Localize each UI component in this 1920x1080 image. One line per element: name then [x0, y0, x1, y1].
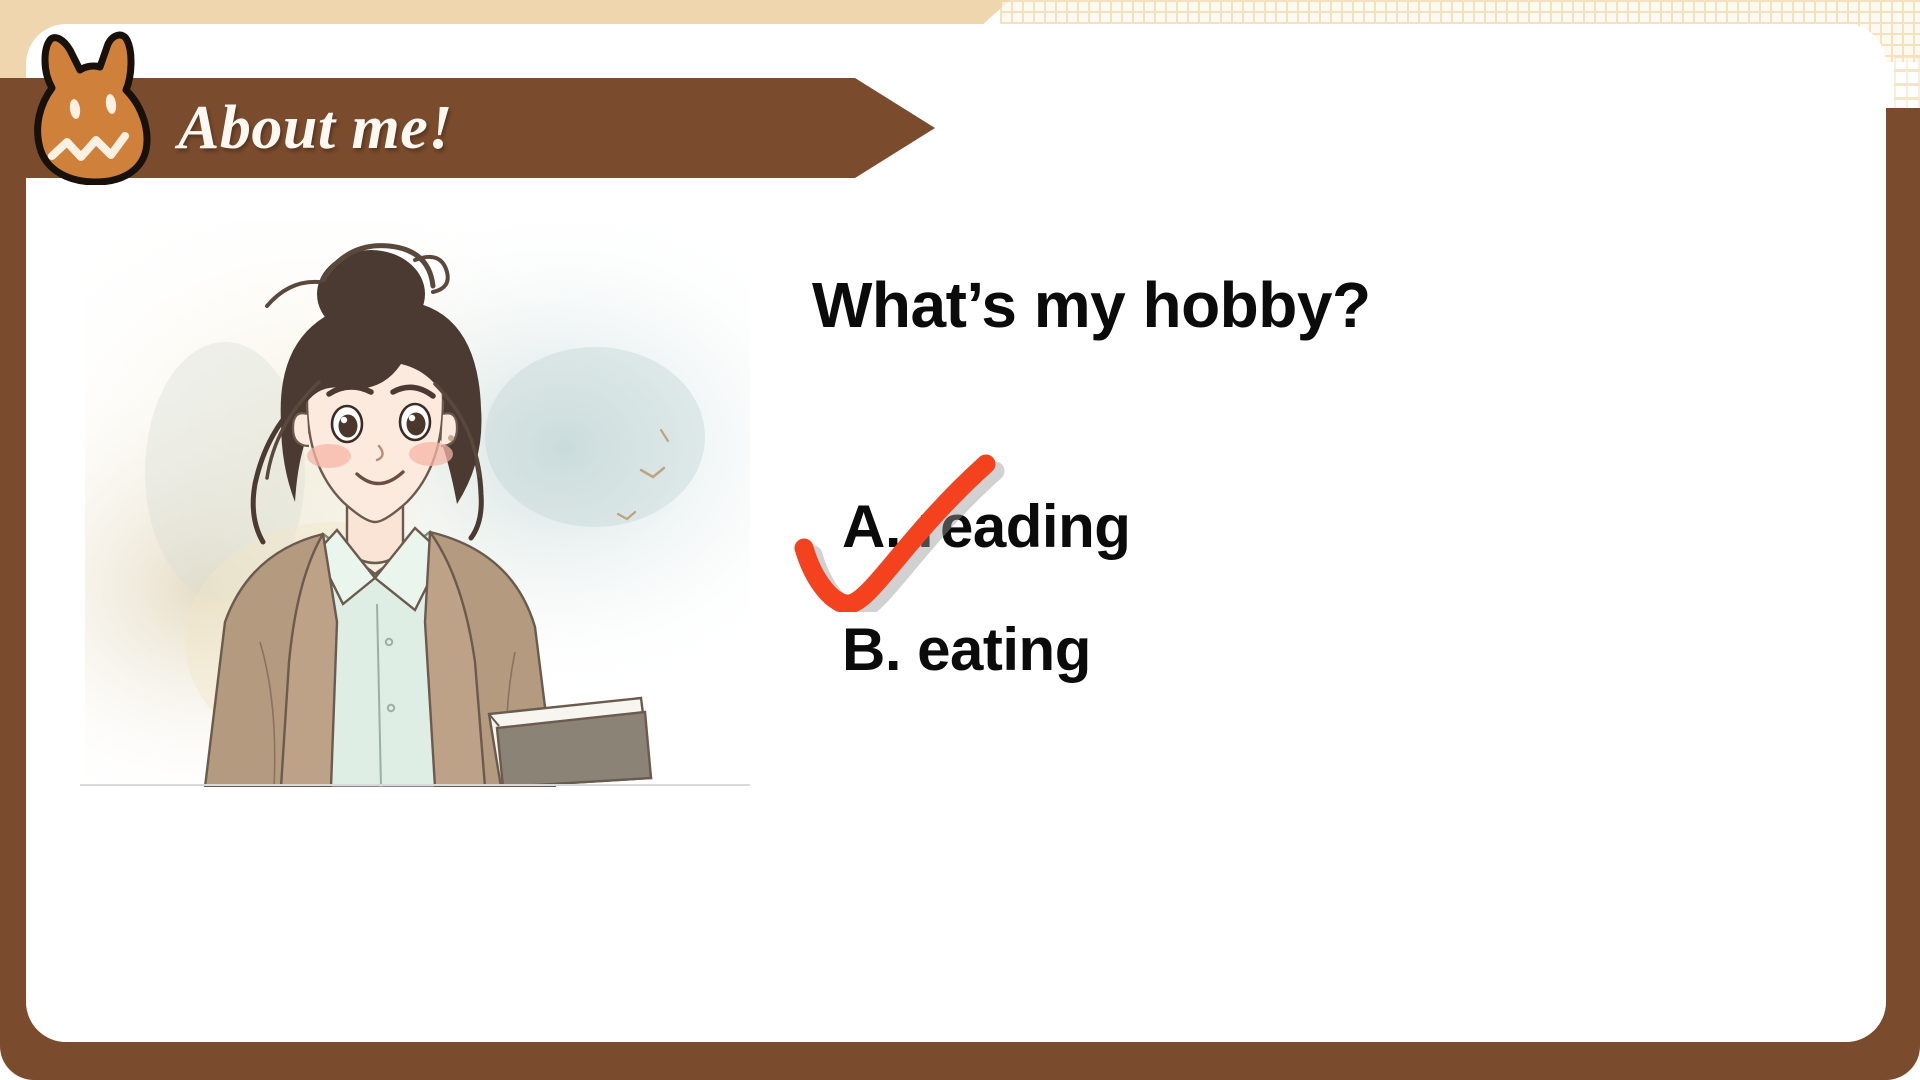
page-title: About me!: [178, 78, 453, 178]
option-a[interactable]: A. reading: [842, 492, 1130, 561]
portrait-illustration: [85, 222, 750, 787]
fox-head-icon: [28, 30, 158, 185]
portrait-baseline-rule: [80, 784, 750, 786]
slide-canvas: About me!: [0, 0, 1920, 1080]
question-text: What’s my hobby?: [812, 268, 1371, 342]
option-b[interactable]: B. eating: [842, 615, 1091, 684]
